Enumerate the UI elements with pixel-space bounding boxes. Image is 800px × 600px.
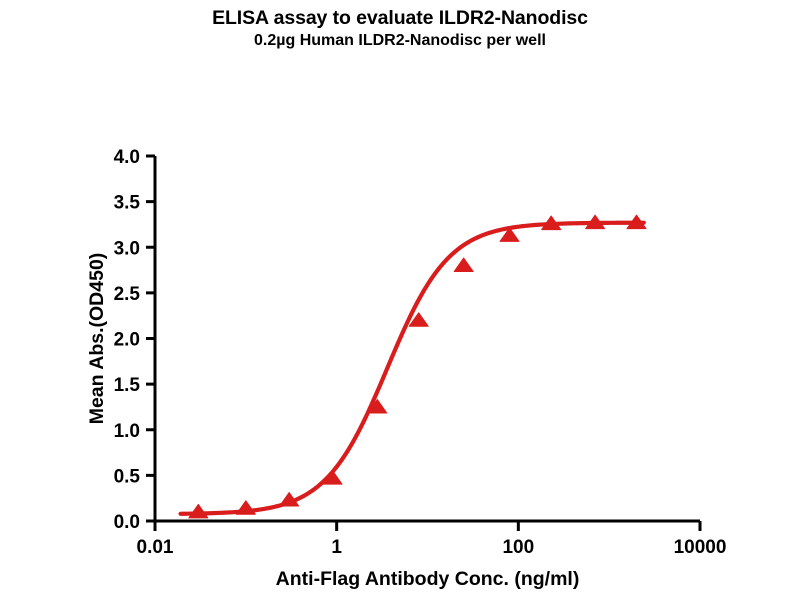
y-axis-tick-label: 0.5: [114, 466, 141, 487]
y-axis-tick-label: 3.0: [114, 238, 140, 259]
y-axis-title: Mean Abs.(OD450): [86, 253, 108, 425]
axes-group: [146, 156, 700, 531]
x-axis-title: Anti-Flag Antibody Conc. (ng/ml): [276, 568, 580, 590]
figure-container: ELISA assay to evaluate ILDR2-Nanodisc 0…: [0, 0, 800, 600]
series-curve: [181, 223, 644, 514]
y-axis-tick-label: 4.0: [114, 147, 140, 168]
y-axis-tick-label: 3.5: [114, 193, 141, 214]
data-point-marker: [236, 501, 255, 515]
y-axis-tick-label: 0.0: [114, 512, 140, 533]
data-series-group: [181, 215, 646, 518]
x-axis-tick-label: 100: [502, 537, 534, 558]
x-axis-tick-label: 10000: [674, 537, 727, 558]
data-point-marker: [454, 258, 473, 272]
elisa-sigmoid-plot: 0.00.51.01.52.02.53.03.54.00.01110010000…: [0, 0, 800, 600]
y-axis-tick-label: 2.0: [114, 330, 140, 351]
x-axis-tick-label: 1: [331, 537, 342, 558]
y-axis-tick-label: 1.0: [114, 421, 140, 442]
axis-labels-group: 0.00.51.01.52.02.53.03.54.00.01110010000…: [86, 147, 726, 590]
data-point-marker: [189, 504, 208, 517]
y-axis-tick-label: 2.5: [114, 284, 141, 305]
x-axis-tick-label: 0.01: [137, 537, 174, 558]
y-axis-tick-label: 1.5: [114, 375, 141, 396]
